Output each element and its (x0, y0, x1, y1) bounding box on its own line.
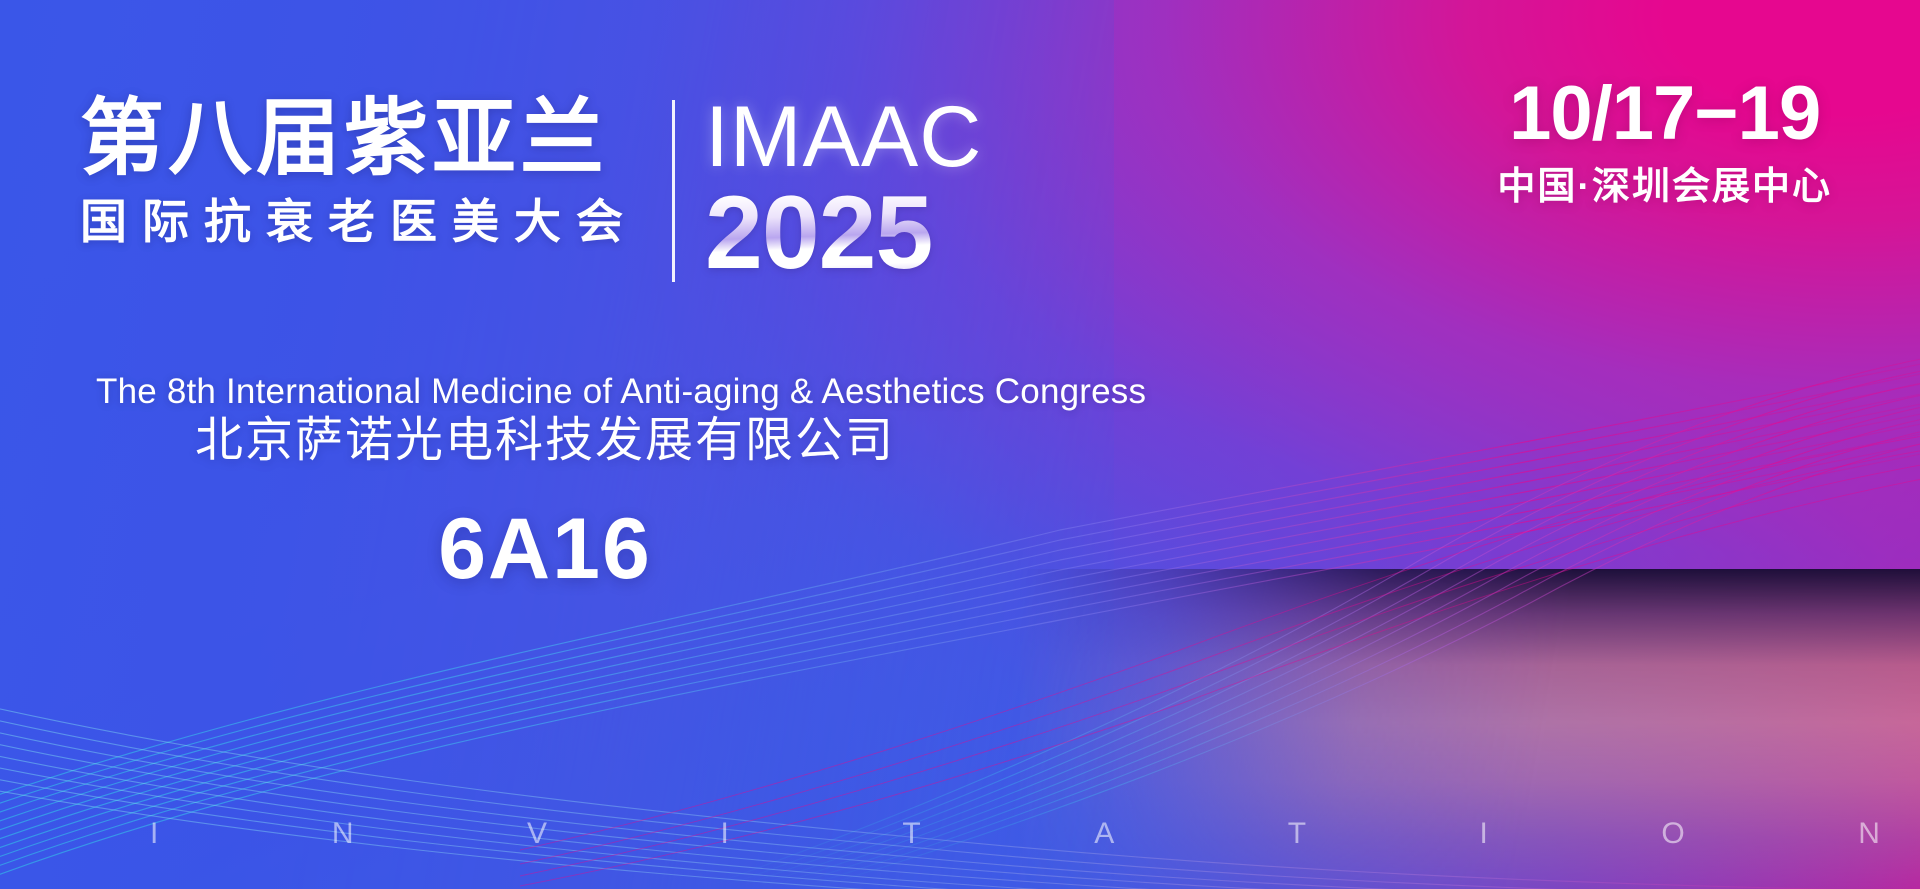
invitation-wordmark: I N V I T A T I O N (150, 817, 1880, 851)
chinese-title-primary: 第八届紫亚兰 (80, 96, 638, 180)
exhibitor-booth-number: 6A16 (0, 500, 1090, 599)
invitation-letter: O (1661, 817, 1684, 851)
invitation-letter: T (1288, 817, 1306, 851)
exhibitor-company-name: 北京萨诺光电科技发展有限公司 (0, 400, 1090, 470)
invitation-letter: I (150, 817, 158, 851)
logo-divider (672, 100, 675, 282)
date-venue-block: 10/17−19 中国·深圳会展中心 (1497, 76, 1832, 206)
invitation-letter: N (332, 817, 354, 851)
invitation-letter: T (902, 817, 920, 851)
event-venue: 中国·深圳会展中心 (1497, 168, 1832, 206)
chinese-title-group: 第八届紫亚兰 国际抗衰老医美大会 (80, 96, 638, 245)
invitation-letter: I (721, 817, 729, 851)
event-year: 2025 (705, 181, 982, 285)
acronym-group: IMAAC 2025 (705, 96, 982, 285)
event-logo-lockup: 第八届紫亚兰 国际抗衰老医美大会 IMAAC 2025 (80, 96, 982, 285)
banner-content: 第八届紫亚兰 国际抗衰老医美大会 IMAAC 2025 The 8th Inte… (0, 0, 1920, 889)
invitation-letter: I (1480, 817, 1488, 851)
invitation-letter: V (527, 817, 547, 851)
invitation-letter: A (1094, 817, 1114, 851)
event-acronym: IMAAC (705, 98, 982, 177)
event-dates: 10/17−19 (1497, 76, 1832, 152)
invitation-letter: N (1858, 817, 1880, 851)
chinese-title-secondary: 国际抗衰老医美大会 (80, 198, 638, 245)
imaac-invitation-banner: 第八届紫亚兰 国际抗衰老医美大会 IMAAC 2025 The 8th Inte… (0, 0, 1920, 889)
